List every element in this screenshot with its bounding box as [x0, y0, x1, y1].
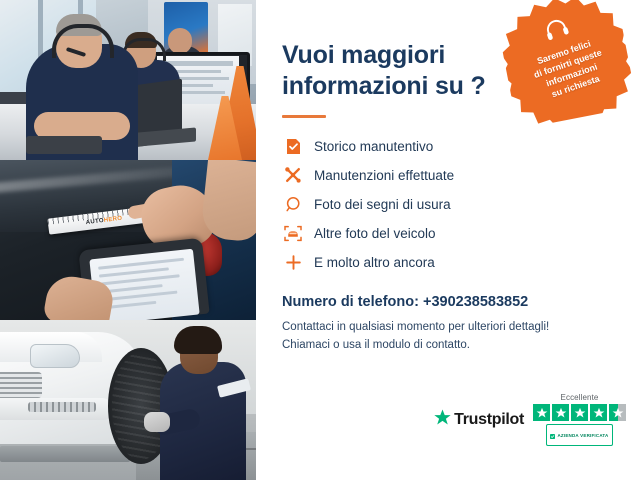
- list-item: E molto altro ancora: [282, 252, 640, 272]
- list-item: Storico manutentivo: [282, 136, 640, 156]
- star-filled-icon: [552, 404, 569, 421]
- list-item-label: Foto dei segni di usura: [314, 197, 451, 212]
- glove-decor: [144, 412, 170, 432]
- page-title: Vuoi maggiori informazioni su ?: [282, 40, 512, 101]
- tools-icon: [282, 165, 304, 185]
- list-item: Altre foto del veicolo: [282, 223, 640, 243]
- photo-collage: AUTOHERO: [0, 0, 256, 480]
- person-head: [168, 28, 192, 54]
- car-scan-icon: [282, 223, 304, 243]
- headlamp-decor: [30, 344, 80, 368]
- star-filled-icon: [571, 404, 588, 421]
- phone-number[interactable]: Numero di telefono: +390238583852: [282, 294, 640, 310]
- call-center-photo: [0, 0, 256, 160]
- list-item-label: Altre foto del veicolo: [314, 226, 436, 241]
- star-filled-icon: [533, 404, 550, 421]
- checklist-icon: [282, 136, 304, 156]
- contact-subtext-line2: Chiamaci o usa il modulo di contatto.: [282, 337, 640, 354]
- trustpilot-name: Trustpilot: [454, 411, 524, 429]
- title-divider: [282, 115, 326, 118]
- rating-label: Eccellente: [561, 393, 599, 402]
- status-badge: AZIENDA VERIFICATA: [546, 424, 612, 446]
- list-item-label: Storico manutentivo: [314, 139, 433, 154]
- callout-badge: Saremo felici di fornirti queste informa…: [494, 0, 637, 130]
- trustpilot-widget[interactable]: Trustpilot Eccellente: [434, 393, 626, 446]
- grille-decor: [0, 372, 42, 398]
- trustpilot-logo: Trustpilot: [434, 409, 524, 431]
- headset-icon: [542, 15, 573, 48]
- tablet-decor: [26, 136, 102, 154]
- air-vent-decor: [28, 402, 96, 412]
- list-item-label: Manutenzioni effettuate: [314, 168, 454, 183]
- contact-block: Numero di telefono: +390238583852 Contat…: [282, 294, 640, 353]
- vehicle-inspection-photo: AUTOHERO: [0, 160, 256, 320]
- list-item: Manutenzioni effettuate: [282, 165, 640, 185]
- list-item-label: E molto altro ancora: [314, 255, 435, 270]
- plus-icon: [282, 252, 304, 272]
- trustpilot-star-icon: [434, 409, 451, 431]
- workshop-photo: [0, 320, 256, 480]
- car-lift-decor: [0, 446, 130, 462]
- magnifier-icon: [282, 194, 304, 214]
- star-filled-icon: [590, 404, 607, 421]
- promo-content: Vuoi maggiori informazioni su ? Storico …: [256, 0, 640, 480]
- trustpilot-rating: Eccellente: [533, 393, 626, 446]
- contact-subtext-line1: Contattaci in qualsiasi momento per ulte…: [282, 319, 640, 336]
- promo-banner: AUTOHERO: [0, 0, 640, 480]
- star-half-icon: [609, 404, 626, 421]
- verified-check-icon: [550, 426, 555, 444]
- star-rating: [533, 404, 626, 421]
- verified-label: AZIENDA VERIFICATA: [557, 433, 608, 438]
- person-hair: [174, 326, 222, 354]
- feature-list: Storico manutentivo Manutenzioni effettu…: [282, 136, 640, 272]
- list-item: Foto dei segni di usura: [282, 194, 640, 214]
